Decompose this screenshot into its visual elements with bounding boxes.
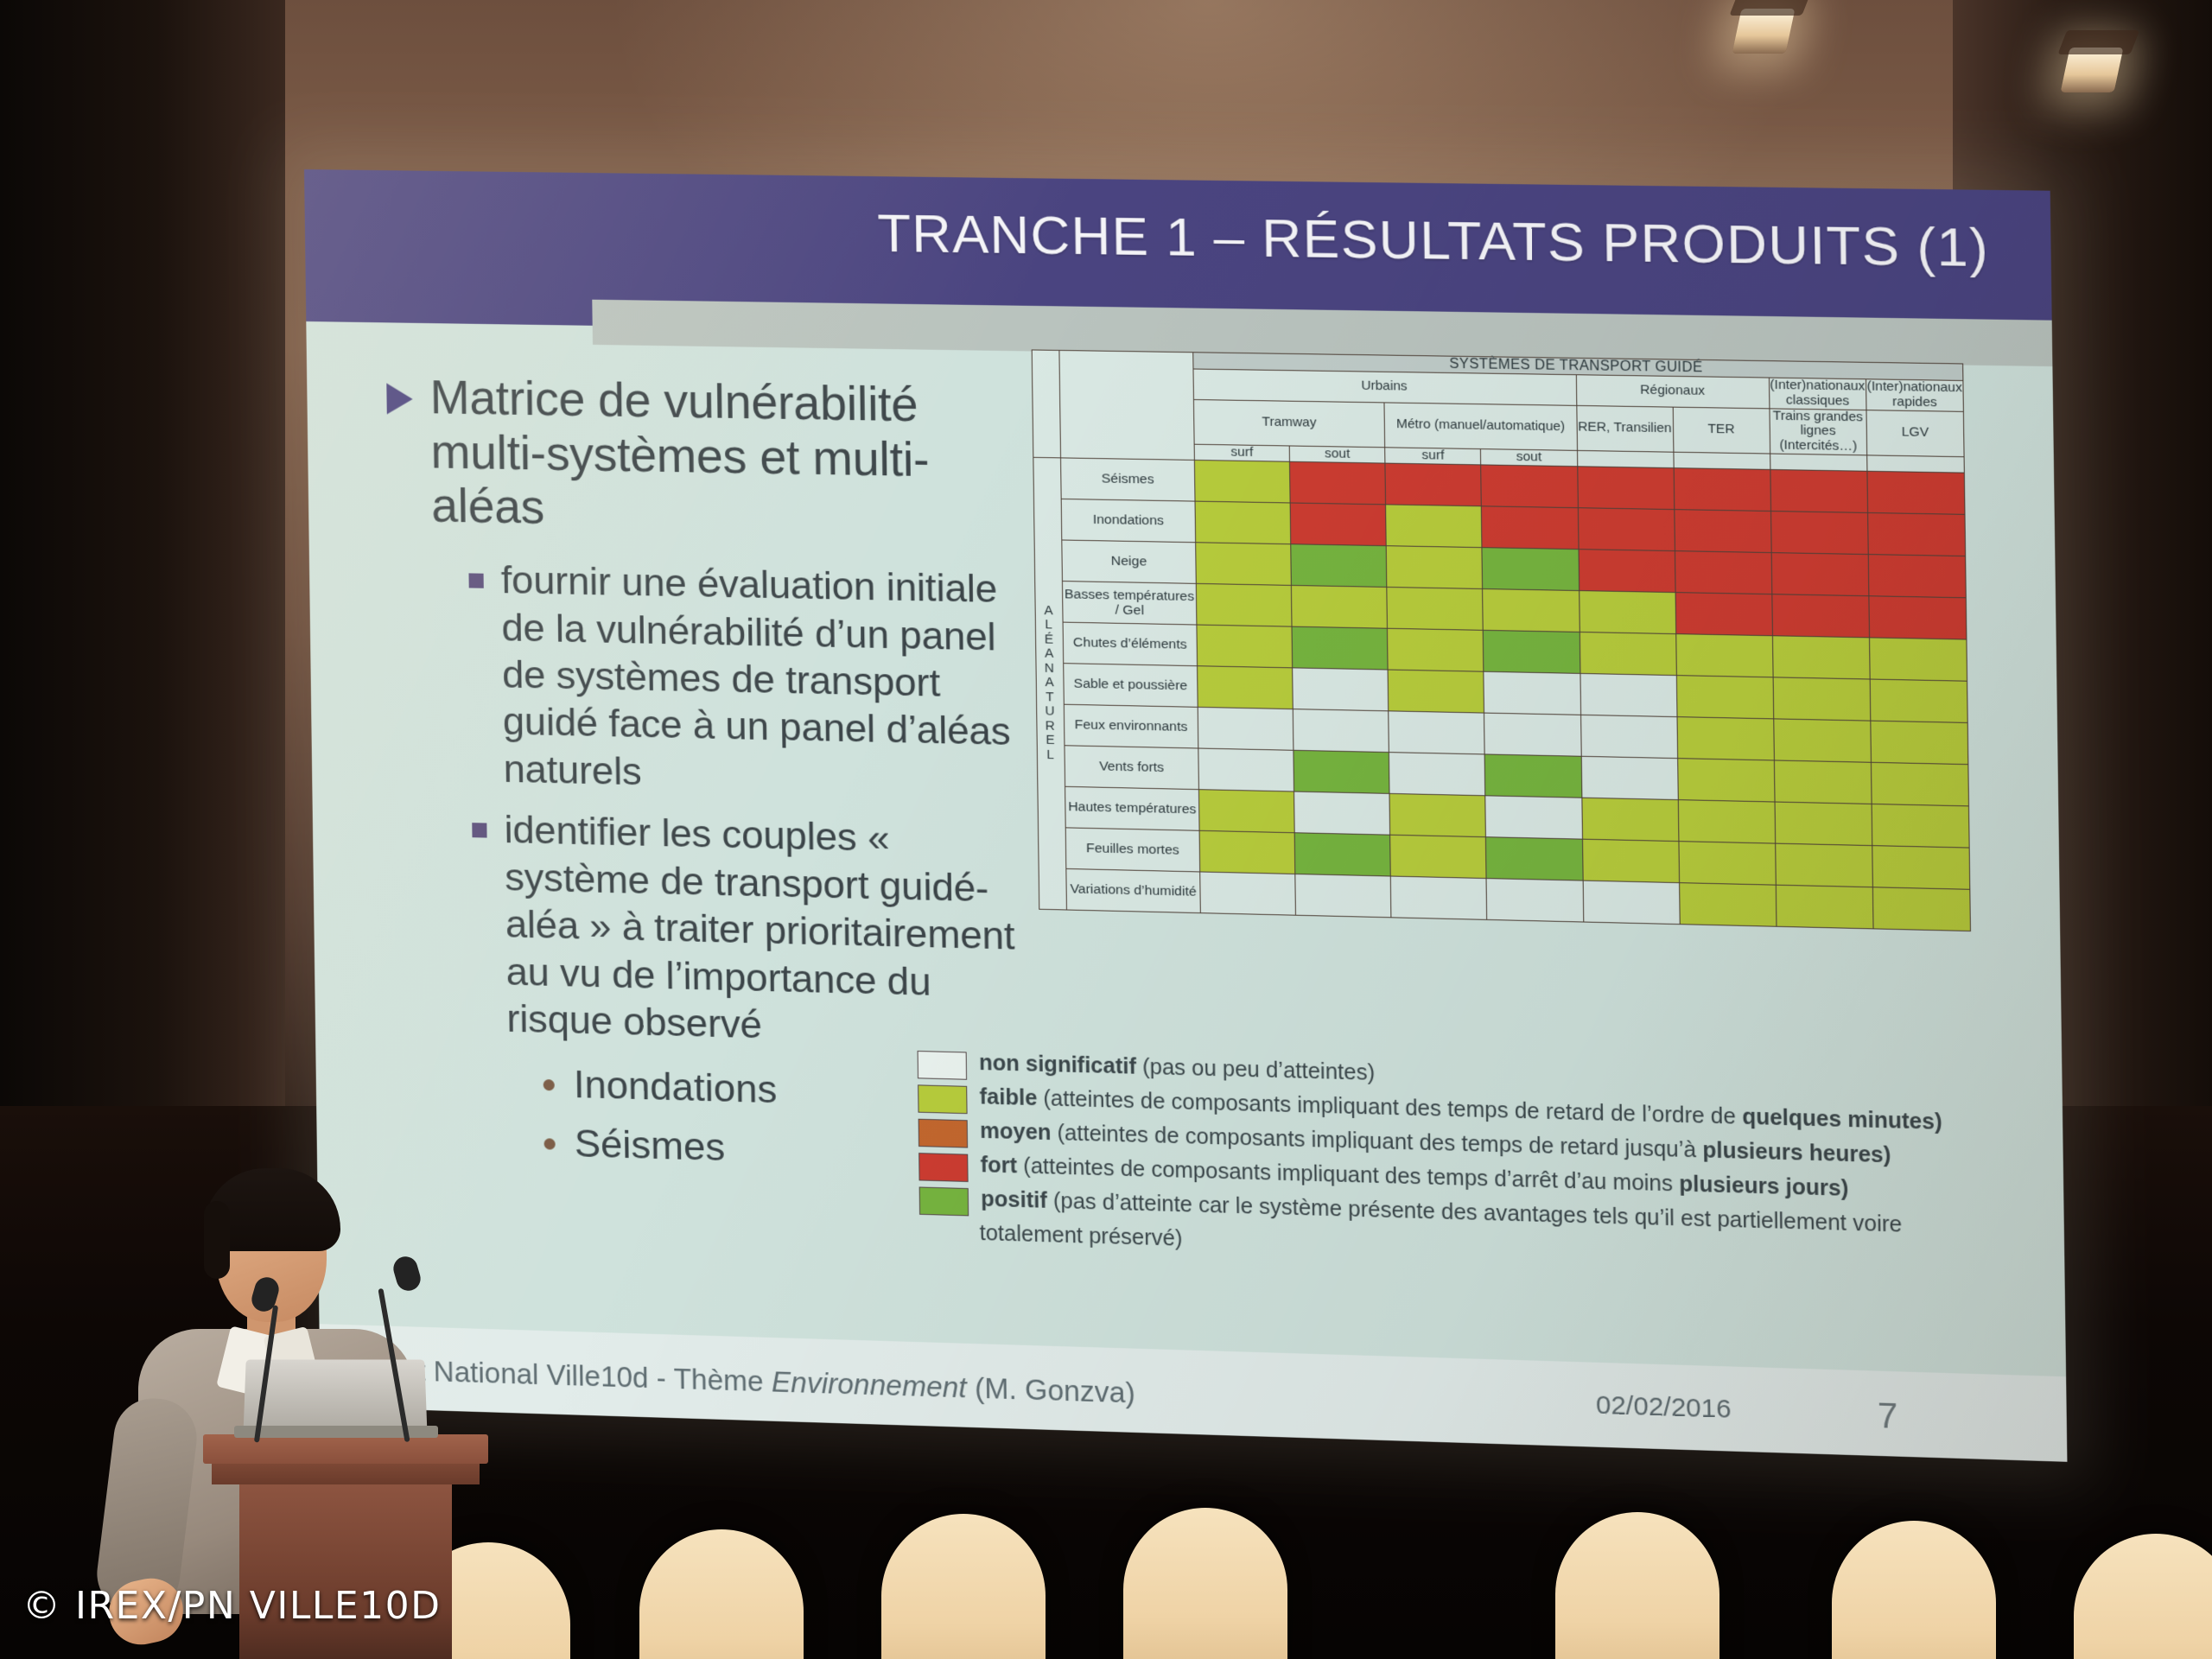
matrix-cell (1389, 711, 1485, 754)
matrix-cell (1294, 750, 1389, 793)
matrix-row-label: Feuilles mortes (1065, 828, 1199, 872)
matrix-row-label: Sable et poussière (1064, 663, 1198, 707)
matrix-colgroup-l3: surf (1194, 444, 1289, 461)
legend-swatch-icon (918, 1119, 969, 1148)
matrix-colgroup-l2: LGV (1866, 410, 1964, 456)
matrix-corner-blank (1059, 350, 1194, 460)
presenter-hair (204, 1201, 230, 1279)
legend-swatch-icon (918, 1051, 968, 1080)
matrix-cell (1872, 887, 1970, 931)
matrix-row-label: Séismes (1061, 458, 1195, 501)
matrix-cell (1772, 594, 1870, 637)
matrix-colgroup-l1: (Inter)nationaux rapides (1866, 379, 1963, 411)
bullet-level1: Matrice de vulnérabilité multi-systèmes … (386, 369, 1036, 543)
matrix-cell (1198, 748, 1294, 791)
legend-swatch-icon (918, 1084, 968, 1114)
matrix-row-label: Inondations (1061, 499, 1195, 542)
matrix-cell (1871, 721, 1968, 765)
auditorium-scene: TRANCHE 1 – RÉSULTATS PRODUITS (1) Matri… (0, 0, 2212, 1659)
matrix-colgroup-l1: Régionaux (1576, 375, 1770, 409)
matrix-cell (1870, 679, 1967, 722)
matrix-cell (1675, 592, 1773, 635)
matrix-cell (1581, 798, 1678, 841)
matrix-colgroup-l3 (1770, 454, 1866, 471)
bullet-level3-text: Inondations (574, 1061, 778, 1114)
matrix-table: SYSTÈMES DE TRANSPORT GUIDÉUrbainsRégion… (1032, 349, 1971, 931)
matrix-cell (1194, 460, 1290, 503)
vulnerability-matrix: SYSTÈMES DE TRANSPORT GUIDÉUrbainsRégion… (1032, 349, 1980, 931)
legend-swatch-icon (918, 1153, 969, 1182)
matrix-cell (1198, 665, 1294, 709)
matrix-cell (1772, 635, 1870, 678)
matrix-cell (1292, 626, 1388, 670)
dot-bullet-icon (544, 1139, 556, 1150)
footer-theme: Environnement (772, 1365, 967, 1403)
matrix-cell (1674, 509, 1771, 552)
bullet-level1-text: Matrice de vulnérabilité multi-systèmes … (429, 370, 1035, 543)
matrix-cell (1484, 630, 1580, 673)
matrix-cell (1775, 802, 1872, 846)
lectern-lip (212, 1464, 480, 1484)
bullet-level2: fournir une évaluation initiale de la vu… (468, 556, 1039, 804)
matrix-cell (1484, 671, 1580, 715)
matrix-cell (1770, 469, 1868, 512)
matrix-cell (1582, 839, 1679, 882)
matrix-cell (1486, 836, 1583, 880)
square-bullet-icon (468, 573, 483, 588)
matrix-cell (1583, 880, 1680, 925)
matrix-cell (1484, 713, 1581, 756)
bullet-level3-text: Séismes (574, 1121, 725, 1172)
footer-page-number: 7 (1878, 1396, 1898, 1437)
matrix-cell (1290, 503, 1386, 546)
matrix-cell (1391, 876, 1488, 919)
matrix-cell (1869, 595, 1967, 639)
matrix-cell (1770, 511, 1868, 554)
matrix-row-label: Basses températures / Gel (1062, 581, 1196, 625)
matrix-cell (1385, 463, 1482, 506)
matrix-cell (1580, 673, 1676, 716)
matrix-cell (1871, 762, 1968, 806)
matrix-cell (1679, 882, 1777, 926)
lectern-body (239, 1484, 452, 1659)
matrix-cell (1386, 505, 1483, 548)
matrix-colgroup-l3 (1577, 450, 1674, 467)
matrix-colgroup-l2: Tramway (1193, 399, 1384, 448)
matrix-legend: non significatif (pas ou peu d’atteintes… (918, 1049, 1994, 1275)
matrix-cell (1198, 707, 1294, 750)
copyright-watermark: © IREX/PN VILLE10D (22, 1584, 442, 1628)
matrix-cell (1290, 461, 1386, 505)
matrix-cell (1295, 874, 1391, 917)
matrix-cell (1773, 677, 1871, 720)
matrix-cell (1774, 760, 1872, 804)
matrix-cell (1867, 512, 1965, 556)
matrix-cell (1580, 632, 1676, 675)
matrix-cell (1390, 835, 1487, 878)
matrix-cell (1200, 872, 1296, 915)
matrix-cell (1388, 670, 1484, 713)
matrix-cell (1580, 715, 1677, 758)
matrix-cell (1199, 830, 1295, 874)
matrix-colgroup-l1: (Inter)nationaux classiques (1769, 378, 1866, 410)
matrix-cell (1675, 550, 1772, 594)
matrix-cell (1293, 668, 1389, 711)
bullet-level2-group: fournir une évaluation initiale de la vu… (389, 555, 1043, 1056)
matrix-row-label: Hautes températures (1065, 786, 1199, 830)
matrix-row-label: Neige (1062, 540, 1196, 583)
matrix-cell (1294, 791, 1390, 835)
matrix-row-label: Chutes d’éléments (1063, 622, 1197, 666)
matrix-cell (1675, 633, 1773, 677)
matrix-cell (1482, 547, 1579, 590)
matrix-cell (1196, 583, 1292, 626)
matrix-cell (1485, 795, 1582, 838)
audience-chair (1123, 1508, 1287, 1659)
matrix-row-label: Vents forts (1065, 745, 1198, 789)
matrix-cell (1291, 543, 1387, 587)
matrix-cell (1677, 716, 1775, 760)
matrix-cell (1872, 845, 1970, 889)
bullet-level2: identifier les couples « système de tran… (472, 805, 1043, 1056)
matrix-cell (1196, 542, 1292, 585)
square-bullet-icon (472, 823, 486, 837)
matrix-cell (1483, 588, 1580, 632)
matrix-cell (1579, 549, 1675, 592)
matrix-cell (1577, 466, 1674, 509)
matrix-colgroup-l3: sout (1289, 446, 1385, 463)
matrix-colgroup-l2: Trains grandes lignes (Intercités…) (1770, 408, 1867, 454)
matrix-cell (1578, 507, 1675, 550)
matrix-cell (1867, 471, 1965, 514)
matrix-cell (1872, 804, 1969, 848)
matrix-cell (1389, 793, 1486, 836)
matrix-colgroup-l2: Métro (manuel/automatique) (1384, 402, 1577, 450)
matrix-cell (1579, 590, 1675, 633)
matrix-colgroup-l3: sout (1481, 448, 1577, 466)
matrix-cell (1481, 465, 1578, 508)
matrix-cell (1388, 628, 1484, 671)
matrix-colgroup-l3 (1867, 455, 1965, 473)
matrix-cell (1676, 675, 1774, 718)
footer-date: 02/02/2016 (1596, 1390, 1732, 1425)
matrix-cell (1294, 832, 1390, 875)
matrix-cell (1292, 585, 1388, 628)
matrix-cell (1868, 554, 1966, 597)
matrix-cell (1775, 843, 1872, 887)
matrix-cell (1679, 841, 1777, 885)
matrix-cell (1776, 885, 1873, 929)
matrix-cell (1198, 789, 1294, 832)
bullet-level2-text: fournir une évaluation initiale de la vu… (500, 556, 1039, 804)
matrix-cell (1678, 799, 1776, 842)
lectern-top (203, 1434, 488, 1464)
matrix-cell (1773, 719, 1871, 762)
matrix-cell (1869, 638, 1967, 681)
matrix-row-label: Feux environnants (1064, 704, 1198, 748)
matrix-cell (1674, 467, 1771, 511)
dot-bullet-icon (543, 1079, 555, 1090)
matrix-colgroup-l3 (1674, 452, 1770, 469)
matrix-cell (1293, 709, 1389, 752)
bullet-level2-text: identifier les couples « système de tran… (504, 806, 1042, 1056)
matrix-axis-corner (1032, 350, 1060, 458)
matrix-cell (1581, 756, 1678, 799)
triangle-bullet-icon (386, 383, 413, 415)
matrix-cell (1386, 545, 1483, 588)
matrix-cell (1484, 754, 1581, 798)
legend-swatch-icon (919, 1186, 969, 1216)
matrix-row-label: Variations d’humidité (1066, 868, 1200, 912)
matrix-cell (1771, 552, 1869, 595)
matrix-cell (1486, 878, 1583, 921)
matrix-cell (1677, 758, 1775, 801)
matrix-cell (1389, 752, 1486, 795)
ceiling-spotlight-icon (1732, 9, 1795, 54)
matrix-colgroup-l3: surf (1385, 448, 1481, 465)
footer-suffix: (M. Gonzva) (966, 1371, 1135, 1408)
matrix-colgroup-l2: TER (1673, 407, 1770, 454)
matrix-cell (1195, 501, 1291, 544)
ceiling-spotlight-icon (2060, 48, 2123, 92)
matrix-cell (1387, 587, 1484, 630)
matrix-cell (1197, 625, 1293, 668)
matrix-colgroup-l2: RER, Transilien (1576, 405, 1673, 452)
matrix-cell (1482, 505, 1579, 549)
